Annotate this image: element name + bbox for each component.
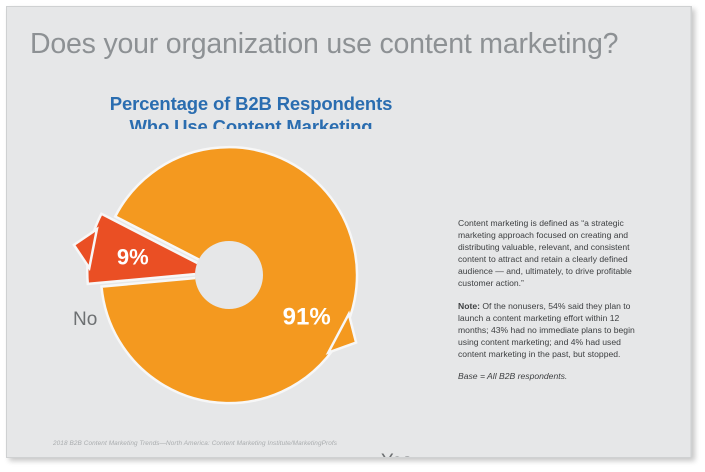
slide-title: Does your organization use content marke… [30,27,670,61]
donut-chart-overlay: 9% 91% [65,129,435,419]
note-paragraph: Note: Of the nonusers, 54% said they pla… [458,300,648,360]
slide-canvas: Does your organization use content marke… [6,6,692,458]
category-label-yes: Yes [381,451,412,458]
note-body: Of the nonusers, 54% said they plan to l… [458,301,635,359]
base-note: Base = All B2B respondents. [458,370,648,382]
notes-column: Content marketing is defined as “a strat… [458,217,648,382]
source-footnote: 2018 B2B Content Marketing Trends—North … [53,440,337,447]
note-label: Note: [458,301,480,311]
chart-title-line-1: Percentage of B2B Respondents [61,92,441,115]
definition-paragraph: Content marketing is defined as “a strat… [458,217,648,290]
data-label-yes: 91% [283,303,331,330]
slide-right-divider [690,7,691,458]
donut-chart: 9% 91% No Yes [65,129,435,419]
donut-center-hole [196,242,262,308]
data-label-no: 9% [117,244,149,269]
category-label-no: No [73,309,97,331]
